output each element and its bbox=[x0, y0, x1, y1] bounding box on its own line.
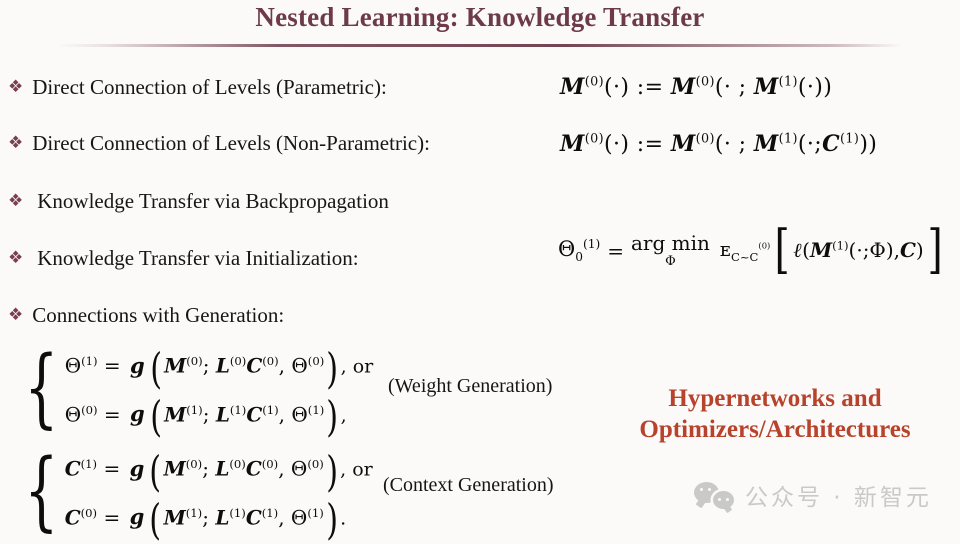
row-arg4-sup: (0) bbox=[307, 457, 323, 471]
eq3-context-symbol: C bbox=[900, 238, 916, 262]
row-arg3-sup: (0) bbox=[262, 457, 278, 471]
bullet-label: Direct Connection of Levels (Parametric)… bbox=[32, 74, 387, 100]
eq3-model-sup: (1) bbox=[832, 239, 848, 253]
system-brace: { bbox=[24, 458, 58, 525]
system-brace: { bbox=[24, 355, 58, 422]
eq2-assign: := bbox=[637, 132, 664, 157]
diamond-bullet-icon: ❖ bbox=[8, 245, 23, 271]
bullet-item-knowledge-transfer-initialization: ❖ Knowledge Transfer via Initialization: bbox=[8, 245, 359, 271]
diamond-bullet-icon: ❖ bbox=[8, 188, 23, 214]
eq3-argmin-variable: Φ bbox=[665, 255, 676, 268]
context-generation-system: { C(1) = g(M(0); L(0)C(0), Θ(0)), or C(0… bbox=[14, 443, 373, 540]
bullet-label: Knowledge Transfer via Backpropagation bbox=[32, 188, 389, 214]
eq2-lhs-symbol: M bbox=[560, 131, 585, 157]
eq3-argmin: arg min Φ bbox=[631, 233, 710, 268]
row-arg4-sup: (1) bbox=[307, 506, 323, 520]
row-tail: . bbox=[340, 507, 346, 529]
row-function: g bbox=[130, 401, 145, 426]
diamond-bullet-icon: ❖ bbox=[8, 130, 23, 156]
row-arg2: L bbox=[216, 354, 230, 378]
row-equals: = bbox=[104, 402, 121, 426]
bullet-item-direct-connection-nonparametric: ❖ Direct Connection of Levels (Non-Param… bbox=[8, 130, 430, 156]
eq3-equals: = bbox=[607, 239, 624, 263]
row-arg1-sup: (0) bbox=[186, 457, 202, 471]
row-arg4: Θ bbox=[291, 402, 307, 426]
eq1-rhs-sup: (0) bbox=[696, 75, 715, 90]
eq1-assign: := bbox=[637, 75, 664, 100]
row-arg1: M bbox=[164, 402, 186, 426]
eq1-arg: (·) bbox=[604, 75, 629, 100]
bullet-item-knowledge-transfer-backpropagation: ❖ Knowledge Transfer via Backpropagation bbox=[8, 188, 389, 214]
row-lhs-sup: (0) bbox=[81, 403, 97, 417]
row-arg3: C bbox=[246, 354, 262, 378]
wechat-bubble-small bbox=[713, 491, 734, 509]
row-tail: , or bbox=[341, 356, 374, 378]
eq1-rhs-open: (· ; bbox=[715, 75, 747, 100]
row-equals: = bbox=[103, 505, 120, 529]
eq2-close: )) bbox=[859, 132, 877, 157]
row-lhs-sup: (1) bbox=[81, 457, 97, 471]
weight-generation-label: (Weight Generation) bbox=[388, 375, 552, 398]
wechat-dot bbox=[718, 498, 721, 501]
row-lhs: Θ bbox=[65, 354, 81, 378]
row-function: g bbox=[130, 456, 145, 481]
callout-line-1: Hypernetworks and bbox=[592, 383, 958, 414]
eq1-lhs-symbol: M bbox=[560, 74, 585, 100]
row-function: g bbox=[130, 504, 145, 529]
row-arg1: M bbox=[164, 457, 186, 481]
eq2-arg: (·) bbox=[604, 132, 629, 157]
row-arg1-sup: (1) bbox=[186, 506, 202, 520]
eq3-loss-expression: ℓ(M(1)(·;Φ),C) bbox=[793, 238, 925, 263]
eq3-loss-symbol: ℓ bbox=[794, 238, 803, 262]
row-arg4-sup: (1) bbox=[308, 403, 324, 417]
eq1-lhs-sup: (0) bbox=[585, 75, 604, 90]
wechat-logo-icon bbox=[694, 481, 734, 509]
eq1-inner-arg: (·)) bbox=[798, 75, 832, 100]
page-title: Nested Learning: Knowledge Transfer bbox=[0, 0, 960, 33]
row-lhs: Θ bbox=[65, 402, 81, 426]
row-arg2-sup: (0) bbox=[229, 457, 245, 471]
equation-direct-connection-parametric: M(0)(·) := M(0)(· ; M(1)(·)) bbox=[560, 74, 832, 100]
row-arg3-sup: (0) bbox=[262, 354, 278, 368]
eq2-lhs-sup: (0) bbox=[585, 132, 604, 147]
eq2-inner-sup: (1) bbox=[779, 132, 798, 147]
row-arg3-sup: (1) bbox=[262, 403, 278, 417]
bullet-label: Knowledge Transfer via Initialization: bbox=[32, 245, 358, 271]
eq3-theta-block: Θ0(1) bbox=[558, 237, 600, 264]
row-lhs: C bbox=[65, 505, 81, 529]
eq3-argmin-operator: arg min bbox=[631, 233, 710, 253]
eq3-theta: Θ bbox=[558, 237, 575, 261]
watermark-text: 公众号 · 新智元 bbox=[745, 478, 932, 512]
row-arg1-sup: (0) bbox=[186, 354, 202, 368]
row-lhs: C bbox=[65, 457, 81, 481]
eq2-rhs-symbol: M bbox=[671, 131, 696, 157]
bullet-label: Connections with Generation: bbox=[32, 302, 284, 328]
row-tail: , or bbox=[340, 459, 373, 481]
row-arg4: Θ bbox=[291, 354, 307, 378]
eq2-rhs-open: (· ; bbox=[715, 132, 747, 157]
row-arg4-sup: (0) bbox=[308, 354, 324, 368]
eq1-inner-sup: (1) bbox=[779, 75, 798, 90]
row-arg2-sup: (0) bbox=[230, 354, 246, 368]
eq2-rhs-sup: (0) bbox=[696, 132, 715, 147]
eq3-expectation: ᴇC~C(0) bbox=[720, 237, 770, 264]
bullet-item-connections-with-generation: ❖ Connections with Generation: bbox=[8, 302, 284, 328]
system-row: C(1) = g(M(0); L(0)C(0), Θ(0)), or bbox=[65, 443, 373, 492]
eq1-rhs-symbol: M bbox=[671, 74, 696, 100]
row-arg1-sup: (1) bbox=[186, 403, 202, 417]
eq2-inner-open: (·; bbox=[798, 132, 822, 157]
equation-direct-connection-nonparametric: M(0)(·) := M(0)(· ; M(1)(·;C(1))) bbox=[560, 131, 877, 157]
row-arg3: C bbox=[246, 402, 262, 426]
eq3-model-arg: (·;Φ) bbox=[849, 238, 894, 262]
weight-generation-system: { Θ(1) = g(M(0); L(0)C(0), Θ(0)), or Θ(0… bbox=[14, 340, 373, 437]
row-arg2: L bbox=[215, 457, 229, 481]
eq2-inner-symbol: M bbox=[754, 131, 779, 157]
eq3-model-symbol: M bbox=[810, 238, 832, 262]
eq2-ctx-sup: (1) bbox=[840, 132, 859, 147]
eq3-bracket-left: [ bbox=[775, 232, 790, 269]
callout-hypernetworks: Hypernetworks and Optimizers/Architectur… bbox=[592, 383, 958, 445]
eq3-expectation-sub-sup: (0) bbox=[758, 241, 770, 251]
eq3-theta-sub: 0 bbox=[575, 250, 583, 264]
title-divider bbox=[58, 44, 902, 47]
wechat-watermark: 公众号 · 新智元 bbox=[694, 478, 932, 512]
eq3-theta-sup: (1) bbox=[583, 237, 600, 251]
eq3-bracket-right: ] bbox=[927, 232, 942, 269]
row-arg2-sup: (1) bbox=[229, 506, 245, 520]
row-equals: = bbox=[103, 457, 120, 481]
row-lhs-sup: (0) bbox=[81, 506, 97, 520]
row-arg3-sup: (1) bbox=[262, 506, 278, 520]
system-row: Θ(0) = g(M(1); L(1)C(1), Θ(1)), bbox=[65, 389, 374, 438]
diamond-bullet-icon: ❖ bbox=[8, 302, 23, 328]
wechat-dot bbox=[726, 498, 729, 501]
row-arg4: Θ bbox=[291, 505, 307, 529]
context-generation-label: (Context Generation) bbox=[383, 474, 554, 497]
row-arg2-sup: (1) bbox=[230, 403, 246, 417]
eq1-inner-symbol: M bbox=[754, 74, 779, 100]
bullet-label: Direct Connection of Levels (Non-Paramet… bbox=[32, 130, 430, 156]
eq3-expectation-symbol: ᴇ bbox=[720, 237, 731, 261]
bullet-item-direct-connection-parametric: ❖ Direct Connection of Levels (Parametri… bbox=[8, 74, 387, 100]
eq2-ctx-symbol: C bbox=[822, 131, 840, 157]
row-arg3: C bbox=[246, 457, 262, 481]
row-arg2: L bbox=[216, 402, 230, 426]
row-equals: = bbox=[104, 354, 121, 378]
eq3-loss-open: ( bbox=[802, 238, 810, 262]
system-rows: Θ(1) = g(M(0); L(0)C(0), Θ(0)), or Θ(0) … bbox=[65, 340, 374, 437]
system-rows: C(1) = g(M(0); L(0)C(0), Θ(0)), or C(0) … bbox=[65, 443, 373, 540]
row-arg1: M bbox=[164, 354, 186, 378]
row-arg3: C bbox=[246, 505, 262, 529]
row-arg1: M bbox=[164, 505, 186, 529]
system-row: C(0) = g(M(1); L(1)C(1), Θ(1)). bbox=[65, 492, 373, 541]
eq3-loss-close: ) bbox=[916, 238, 924, 262]
callout-line-2: Optimizers/Architectures bbox=[592, 414, 958, 445]
diamond-bullet-icon: ❖ bbox=[8, 74, 23, 100]
eq3-expectation-sub: C~C bbox=[731, 250, 758, 264]
row-tail: , bbox=[341, 404, 347, 426]
row-arg4: Θ bbox=[291, 457, 307, 481]
row-lhs-sup: (1) bbox=[81, 354, 97, 368]
row-function: g bbox=[130, 353, 145, 378]
system-row: Θ(1) = g(M(0); L(0)C(0), Θ(0)), or bbox=[65, 340, 374, 389]
row-arg2: L bbox=[215, 505, 229, 529]
equation-knowledge-transfer-initialization: Θ0(1) = arg min Φ ᴇC~C(0) [ ℓ(M(1)(·;Φ),… bbox=[558, 232, 945, 269]
